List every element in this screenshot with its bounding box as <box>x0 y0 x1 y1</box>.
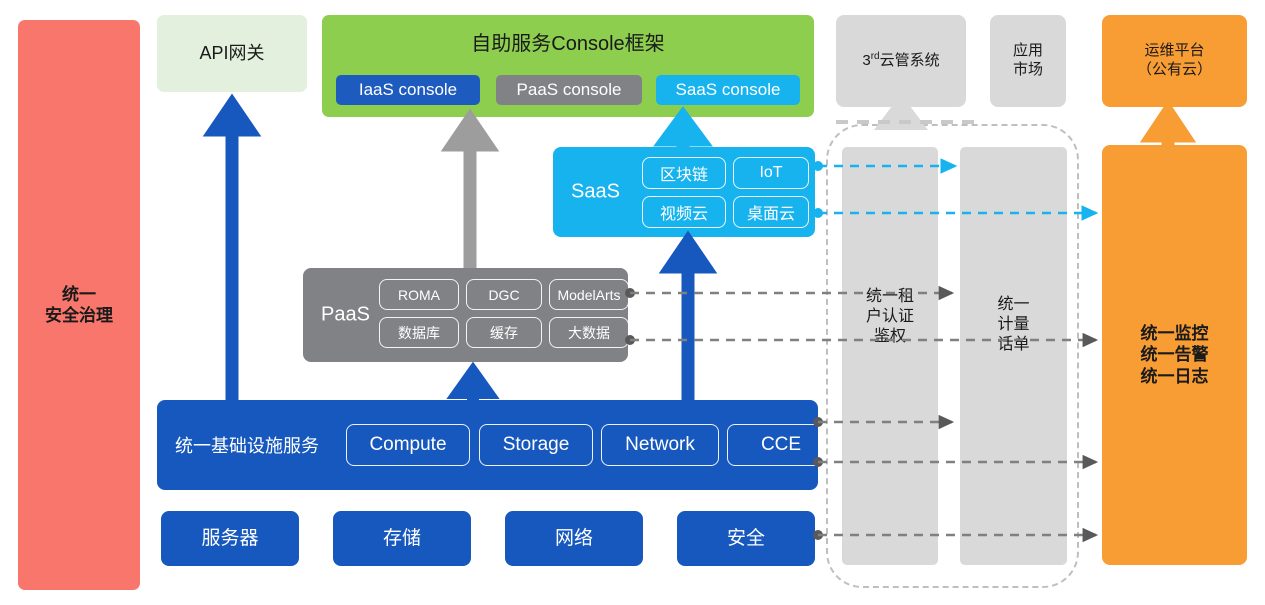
resource-box-network-label: 网络 <box>555 527 593 551</box>
paas-item-database-label: 数据库 <box>398 323 440 343</box>
console-framework-title: 自助服务Console框架 <box>322 27 814 56</box>
paas-item-cache[interactable]: 缓存 <box>466 317 542 348</box>
app-market-box[interactable]: 应用 市场 <box>990 15 1066 107</box>
saas-layer-panel: SaaS 区块链 IoT 视频云 桌面云 <box>553 147 815 237</box>
paas-layer-panel: PaaS ROMA DGC ModelArts 数据库 缓存 大数据 <box>303 268 628 362</box>
saas-item-blockchain[interactable]: 区块链 <box>642 157 726 189</box>
infra-item-compute-label: Compute <box>369 434 446 456</box>
infra-item-network-label: Network <box>625 434 695 456</box>
infrastructure-layer-panel: 统一基础设施服务 Compute Storage Network CCE <box>157 400 818 490</box>
paas-console-chip[interactable]: PaaS console <box>496 75 642 105</box>
security-governance-line1: 统一 <box>45 284 113 305</box>
paas-item-roma-label: ROMA <box>398 287 440 303</box>
third-party-label: 云管系统 <box>880 52 940 69</box>
metering-billing-label: 统一 计量 话单 <box>960 284 1067 366</box>
arrow-infra-to-paas <box>458 372 488 400</box>
resource-box-server[interactable]: 服务器 <box>161 511 299 566</box>
resource-box-storage[interactable]: 存储 <box>333 511 471 566</box>
api-gateway-label: API网关 <box>199 42 264 65</box>
ops-platform-top-line2: （公有云） <box>1137 61 1212 80</box>
ops-side-line1: 统一监控 <box>1141 323 1209 344</box>
infra-item-cce-label: CCE <box>761 434 801 456</box>
resource-box-storage-label: 存储 <box>383 527 421 551</box>
paas-item-cache-label: 缓存 <box>490 323 518 343</box>
metering-billing-line1: 统一 <box>997 295 1029 315</box>
security-governance-panel[interactable]: 统一 安全治理 <box>18 20 140 590</box>
iaas-console-chip[interactable]: IaaS console <box>336 75 480 105</box>
paas-item-bigdata[interactable]: 大数据 <box>549 317 629 348</box>
saas-item-desktop-cloud-label: 桌面云 <box>747 200 795 224</box>
infra-item-storage-label: Storage <box>503 434 570 456</box>
tenant-auth-label: 统一租 户认证 鉴权 <box>842 276 938 358</box>
saas-item-video-cloud[interactable]: 视频云 <box>642 196 726 228</box>
resource-box-security-label: 安全 <box>727 527 765 551</box>
app-market-line2: 市场 <box>1013 61 1043 80</box>
infra-item-storage[interactable]: Storage <box>479 424 593 466</box>
ops-platform-public-cloud-box[interactable]: 运维平台 （公有云） <box>1102 15 1247 107</box>
infra-item-compute[interactable]: Compute <box>346 424 470 466</box>
resource-box-server-label: 服务器 <box>201 527 258 551</box>
ops-side-line3: 统一日志 <box>1141 366 1209 387</box>
arrow-infra-to-saas <box>671 242 705 400</box>
paas-item-dgc-label: DGC <box>488 287 519 303</box>
saas-item-blockchain-label: 区块链 <box>660 161 708 185</box>
console-framework-panel: 自助服务Console框架 IaaS console PaaS console … <box>322 15 814 117</box>
paas-console-label: PaaS console <box>517 80 622 100</box>
architecture-diagram: 统一 安全治理 API网关 自助服务Console框架 IaaS console… <box>0 0 1265 605</box>
third-party-sup: rd <box>871 51 880 62</box>
infra-item-network[interactable]: Network <box>601 424 719 466</box>
app-market-line1: 应用 <box>1013 42 1043 61</box>
infra-item-cce[interactable]: CCE <box>727 424 835 466</box>
arrow-to-ops-platform <box>1152 112 1184 145</box>
ops-platform-top-line1: 运维平台 <box>1137 42 1212 61</box>
ops-side-line2: 统一告警 <box>1141 344 1209 365</box>
saas-item-video-cloud-label: 视频云 <box>660 200 708 224</box>
tenant-auth-line2: 户认证 <box>866 307 914 327</box>
arrow-infra-to-api-gateway <box>215 105 249 400</box>
iaas-console-label: IaaS console <box>359 80 457 100</box>
paas-item-bigdata-label: 大数据 <box>568 323 610 343</box>
paas-item-database[interactable]: 数据库 <box>379 317 459 348</box>
security-governance-line2: 安全治理 <box>45 305 113 326</box>
arrow-paas-to-console <box>453 120 487 268</box>
tenant-auth-line1: 统一租 <box>866 287 914 307</box>
paas-item-dgc[interactable]: DGC <box>466 279 542 310</box>
third-party-cloud-mgmt-box[interactable]: 3rd云管系统 <box>836 15 966 107</box>
metering-billing-line3: 话单 <box>997 335 1029 355</box>
paas-item-modelarts[interactable]: ModelArts <box>549 279 629 310</box>
api-gateway-box[interactable]: API网关 <box>157 15 307 92</box>
arrow-saas-to-saas-console <box>666 117 700 147</box>
resource-box-network[interactable]: 网络 <box>505 511 643 566</box>
metering-billing-line2: 计量 <box>997 315 1029 335</box>
paas-layer-label: PaaS <box>321 304 370 327</box>
paas-item-modelarts-label: ModelArts <box>557 287 620 303</box>
resource-box-security[interactable]: 安全 <box>677 511 815 566</box>
saas-console-chip[interactable]: SaaS console <box>656 75 800 105</box>
saas-item-iot-label: IoT <box>759 164 782 182</box>
saas-item-iot[interactable]: IoT <box>733 157 809 189</box>
saas-layer-label: SaaS <box>571 181 620 204</box>
paas-item-roma[interactable]: ROMA <box>379 279 459 310</box>
infrastructure-label: 统一基础设施服务 <box>175 432 319 458</box>
ops-platform-side-panel[interactable]: 统一监控 统一告警 统一日志 <box>1102 145 1247 565</box>
third-party-prefix: 3 <box>862 52 870 69</box>
saas-console-label: SaaS console <box>676 80 781 100</box>
saas-item-desktop-cloud[interactable]: 桌面云 <box>733 196 809 228</box>
tenant-auth-line3: 鉴权 <box>866 327 914 347</box>
